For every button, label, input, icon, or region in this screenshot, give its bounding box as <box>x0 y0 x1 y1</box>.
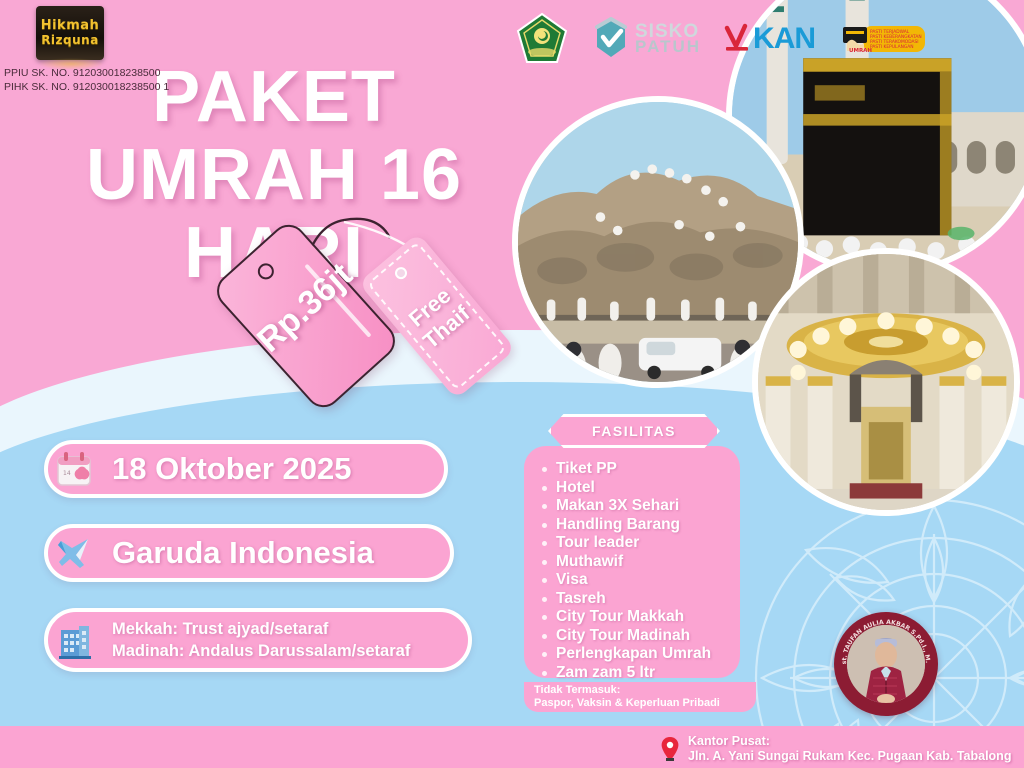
list-item: City Tour Makkah <box>540 608 740 627</box>
list-item: Tour leader <box>540 534 740 553</box>
list-item: City Tour Madinah <box>540 627 740 646</box>
calendar-icon: 14 <box>46 441 102 497</box>
exclusions-detail: Paspor, Vaksin & Keperluan Pribadi <box>534 697 756 710</box>
list-item: Zam zam 5 ltr <box>540 664 740 683</box>
facilities-items: Tiket PP Hotel Makan 3X Sehari Handling … <box>540 460 740 682</box>
address-text: Kantor Pusat: Jln. A. Yani Sungai Rukam … <box>688 734 1011 764</box>
kan-wordmark: KAN <box>753 22 815 56</box>
kan-logo-icon: KAN <box>723 22 815 56</box>
list-item: Muthawif <box>540 553 740 572</box>
certification-logos: SISKO PATUH KAN PASTI TERJADWAL PASTI KE… <box>515 8 1015 70</box>
list-item: Hotel <box>540 479 740 498</box>
kaaba-cube-icon: Hikmah Rizquna <box>36 6 104 60</box>
company-logo: Hikmah Rizquna <box>36 6 110 66</box>
location-pin-icon <box>660 736 680 762</box>
hotel-madinah: Madinah: Andalus Darussalam/setaraf <box>112 640 410 662</box>
svg-text:UMRAH: UMRAH <box>849 48 872 54</box>
sisko-text-bottom: PATUH <box>635 39 701 54</box>
nabawi-photo <box>752 248 1020 516</box>
office-label: Kantor Pusat: <box>688 734 1011 749</box>
list-item: Tasreh <box>540 590 740 609</box>
facilities-list: Tiket PP Hotel Makan 3X Sehari Handling … <box>524 446 740 678</box>
facilities-banner: FASILITAS <box>548 414 720 448</box>
exclusions-title: Tidak Termasuk: <box>534 684 756 697</box>
list-item: Perlengkapan Umrah <box>540 645 740 664</box>
director-portrait <box>847 625 925 703</box>
address-line: Jln. A. Yani Sungai Rukam Kec. Pugaan Ka… <box>688 749 1011 764</box>
departure-date-text: 18 Oktober 2025 <box>112 451 352 487</box>
umrah-package-poster: Hikmah Rizquna PPIU SK. NO. 912030018238… <box>0 0 1024 768</box>
svg-text:14: 14 <box>63 470 71 477</box>
hotel-pill: Mekkah: Trust ajyad/setaraf Madinah: And… <box>44 608 472 672</box>
pasti-badge-icon: PASTI TERJADWAL PASTI KEBERANGKATAN PAST… <box>837 19 927 59</box>
license-numbers: PPIU SK. NO. 912030018238500 PIHK SK. NO… <box>4 66 169 94</box>
title-line-2: UMRAH 16 <box>64 136 484 214</box>
list-item: Makan 3X Sehari <box>540 497 740 516</box>
logo-line-1: Hikmah <box>41 19 100 33</box>
list-item: Tiket PP <box>540 460 740 479</box>
siskopatuh-mark <box>591 17 631 61</box>
departure-date-pill: 14 18 Oktober 2025 <box>44 440 448 498</box>
kemenag-logo-icon <box>515 12 569 66</box>
airline-pill: Garuda Indonesia <box>44 524 454 582</box>
hotel-icon <box>46 612 102 668</box>
office-address: Kantor Pusat: Jln. A. Yani Sungai Rukam … <box>660 734 1011 764</box>
list-item: Handling Barang <box>540 516 740 535</box>
hotel-text: Mekkah: Trust ajyad/setaraf Madinah: And… <box>112 618 410 662</box>
list-item: Visa <box>540 571 740 590</box>
exclusions-note: Tidak Termasuk: Paspor, Vaksin & Keperlu… <box>524 682 756 712</box>
airline-text: Garuda Indonesia <box>112 535 374 571</box>
license-pihk: PIHK SK. NO. 912030018238500 1 <box>4 80 169 94</box>
director-seal: Ust. TAUFAN AULIA AKBAR S.Pd.I., M.M DIR… <box>834 612 938 716</box>
siskopatuh-wordmark: SISKO PATUH <box>635 24 701 54</box>
airplane-icon <box>46 525 102 581</box>
svg-text:PASTI KEPULANGAN: PASTI KEPULANGAN <box>870 44 914 50</box>
price-tag-hole <box>255 260 278 283</box>
logo-line-2: Rizquna <box>41 33 99 47</box>
logo-glow <box>38 58 104 70</box>
hotel-mekkah: Mekkah: Trust ajyad/setaraf <box>112 618 410 640</box>
facilities-title: FASILITAS <box>592 423 676 439</box>
siskopatuh-logo-icon: SISKO PATUH <box>591 17 701 61</box>
